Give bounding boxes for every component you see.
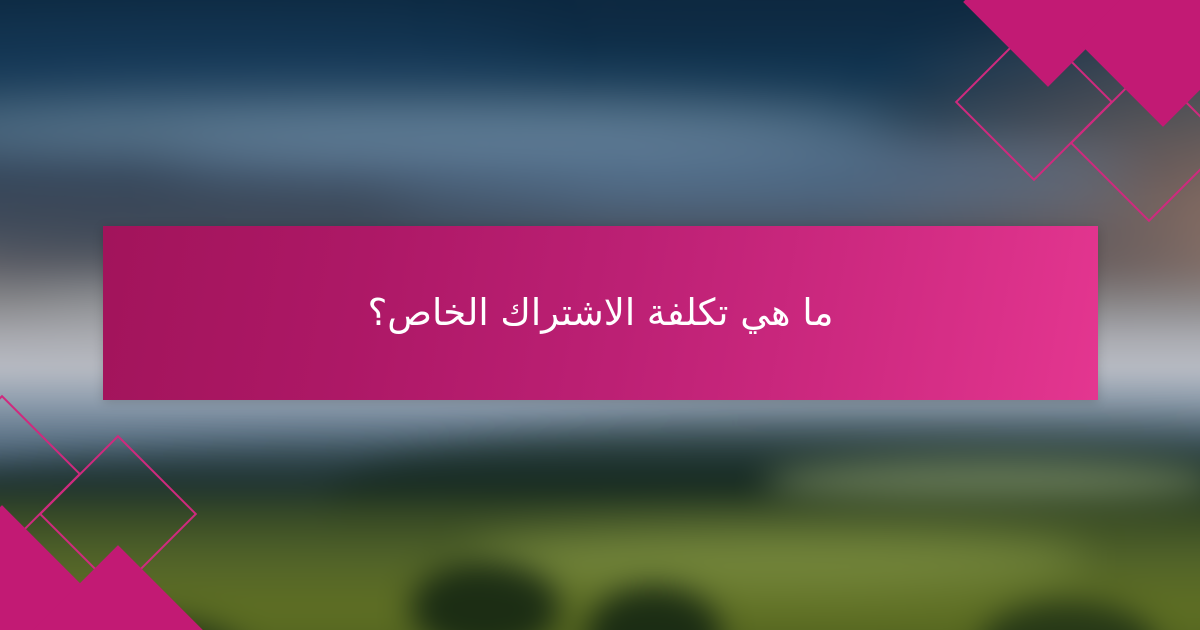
forest-ridge	[329, 413, 1200, 533]
foreground-bush	[57, 616, 247, 630]
meadow-highlight	[464, 526, 1088, 594]
sunlit-field-patch	[763, 458, 1200, 511]
foreground-bush	[586, 586, 722, 630]
page-title: ما هي تكلفة الاشتراك الخاص؟	[334, 290, 868, 336]
cloud-band	[464, 0, 1088, 37]
headline-banner: ما هي تكلفة الاشتراك الخاص؟	[103, 226, 1098, 400]
distant-ridge	[0, 398, 1200, 488]
cloud-band	[383, 172, 1129, 225]
cloud-band	[166, 134, 1143, 194]
foreground-bush	[980, 601, 1156, 630]
foreground-meadow	[0, 496, 1200, 630]
forest-ridge	[0, 435, 1200, 555]
share-card-canvas: ما هي تكلفة الاشتراك الخاص؟	[0, 0, 1200, 630]
cloud-band	[0, 97, 898, 165]
cloud-band	[0, 29, 546, 89]
foreground-bush	[410, 563, 559, 630]
